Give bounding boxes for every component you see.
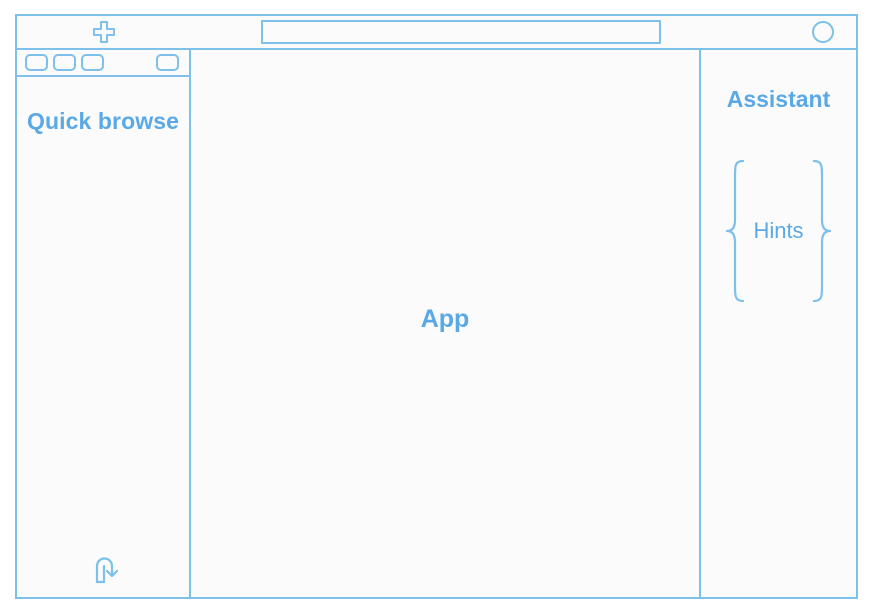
topbar-center-region [191,16,686,48]
sidebar-body: Quick browse [17,77,189,597]
address-input[interactable] [261,20,661,44]
sidebar-tool-button-1[interactable] [25,54,48,71]
sidebar-title: Quick browse [17,107,189,136]
topbar-left-region [17,16,191,48]
sidebar-toolbar [17,50,189,77]
app-label: App [421,305,470,334]
topbar-right-region [686,16,856,48]
assistant-panel: Assistant Hints [701,50,856,597]
plus-icon[interactable] [92,20,116,44]
assistant-title: Assistant [727,86,831,113]
u-turn-arrow-icon[interactable] [91,553,125,585]
sidebar-tool-button-4[interactable] [156,54,179,71]
right-curly-brace-icon [808,158,834,304]
browser-topbar [17,16,856,50]
sidebar-tool-button-3[interactable] [81,54,104,71]
hints-label: Hints [749,218,807,244]
sidebar-tool-button-2[interactable] [53,54,76,71]
hints-block: Hints [701,158,856,304]
sidebar-panel: Quick browse [17,50,191,597]
left-curly-brace-icon [723,158,749,304]
circle-avatar-icon[interactable] [812,21,834,43]
wireframe-window: Quick browse App Assistant Hints [15,14,858,599]
app-content-panel: App [191,50,701,597]
main-panes: Quick browse App Assistant Hints [17,50,856,597]
